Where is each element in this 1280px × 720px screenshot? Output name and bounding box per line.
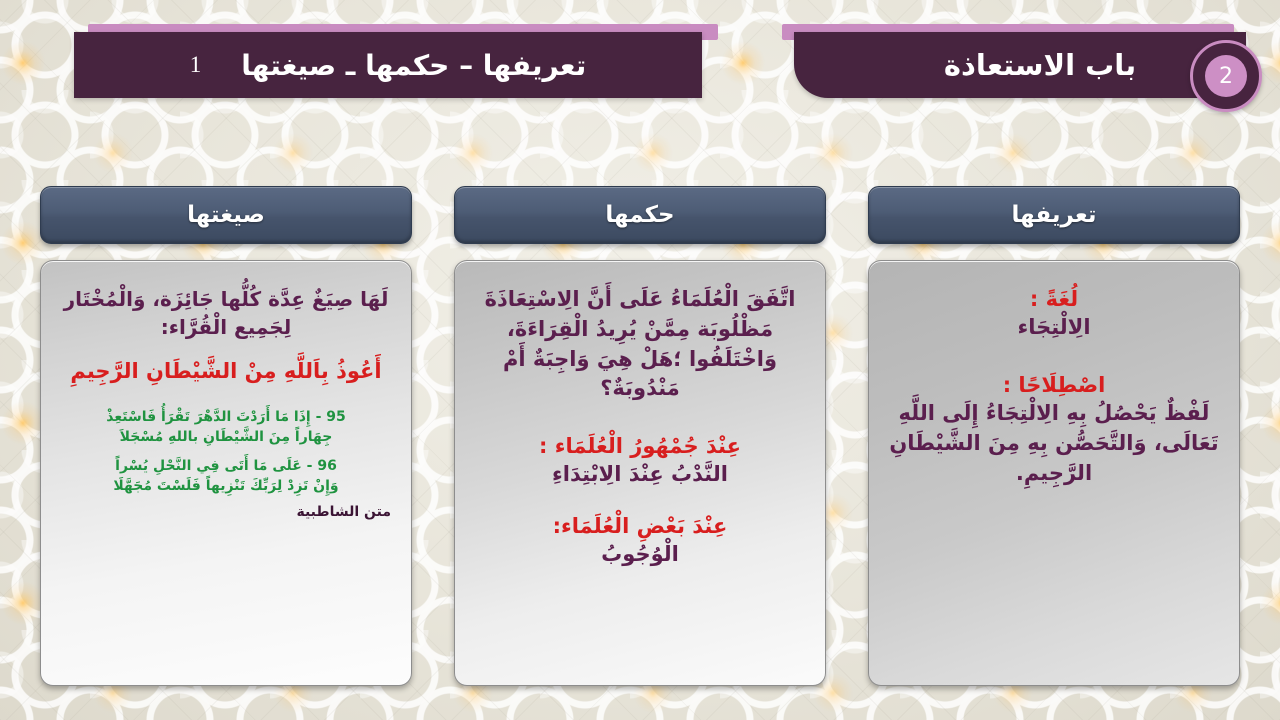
column-body-sighatuha: لَهَا صِيَغٌ عِدَّة كُلُّها جَائِزَة، وَ…	[40, 260, 412, 686]
column-header-label: صيغتها	[187, 202, 265, 228]
verse-source: متن الشاطبية	[55, 504, 397, 520]
istilah-value: لَفْظٌ يَحْصُلُ بِهِ الِالْتِجَاءُ إِلَى…	[883, 399, 1225, 488]
column-header-tarifuha[interactable]: تعريفها	[868, 186, 1240, 244]
verse-line-96b: وَإِنْ تَزِدْ لِرَبِّكَ تَنْزِيهاً فَلَس…	[55, 476, 397, 496]
opinion2-value: الْوُجُوبُ	[469, 540, 811, 570]
verse-line-95a: 95 - إِذَا مَا أَرَدْتَ الدَّهْرَ تَقْرَ…	[55, 407, 397, 427]
subtitle-text: تعريفها – حكمها ـ صيغتها	[241, 49, 586, 82]
lugha-value: الِالْتِجَاء	[883, 313, 1225, 343]
chapter-number-badge: 2	[1190, 40, 1262, 112]
page-title: باب الاستعاذة	[904, 48, 1136, 82]
slide-canvas: باب الاستعاذة 2 تعريفها – حكمها ـ صيغتها…	[0, 0, 1280, 720]
column-header-hukmuha[interactable]: حكمها	[454, 186, 826, 244]
opinion2-label: عِنْدَ بَعْضِ الْعُلَمَاء:	[469, 512, 811, 540]
subtitle-bar: تعريفها – حكمها ـ صيغتها 1	[74, 32, 702, 98]
verse-line-95b: جِهَاراً مِنَ الشَّيْطَانِ باللهِ مُسْجَ…	[55, 427, 397, 447]
hukm-paragraph: اتَّفَقَ الْعُلَمَاءُ عَلَى أَنَّ الِاسْ…	[469, 285, 811, 404]
subtitle-number: 1	[190, 52, 202, 78]
column-body-tarifuha: لُغَةً : الِالْتِجَاء اصْطِلَاحًا : لَفْ…	[868, 260, 1240, 686]
verse-line-96a: 96 - عَلَى مَا أَتَى فِي النَّحْلِ يُسْر…	[55, 456, 397, 476]
opinion1-value: النَّدْبُ عِنْدَ الِابْتِدَاءِ	[469, 460, 811, 490]
taawwudh-formula: أَعُوذُ بِاَللَّهِ مِنْ الشَّيْطَانِ الر…	[55, 357, 397, 385]
sighah-intro: لَهَا صِيَغٌ عِدَّة كُلُّها جَائِزَة، وَ…	[55, 285, 397, 341]
content-columns: تعريفها لُغَةً : الِالْتِجَاء اصْطِلَاحً…	[40, 186, 1240, 686]
column-header-label: تعريفها	[1012, 202, 1097, 228]
chapter-number-badge-value: 2	[1205, 55, 1247, 97]
column-hukmuha: حكمها اتَّفَقَ الْعُلَمَاءُ عَلَى أَنَّ …	[454, 186, 826, 686]
istilah-label: اصْطِلَاحًا :	[883, 371, 1225, 399]
column-body-hukmuha: اتَّفَقَ الْعُلَمَاءُ عَلَى أَنَّ الِاسْ…	[454, 260, 826, 686]
title-bar: باب الاستعاذة	[794, 32, 1246, 98]
opinion1-label: عِنْدَ جُمْهُورُ الْعُلَمَاء :	[469, 432, 811, 460]
column-sighatuha: صيغتها لَهَا صِيَغٌ عِدَّة كُلُّها جَائِ…	[40, 186, 412, 686]
column-header-label: حكمها	[605, 202, 674, 228]
column-header-sighatuha[interactable]: صيغتها	[40, 186, 412, 244]
column-tarifuha: تعريفها لُغَةً : الِالْتِجَاء اصْطِلَاحً…	[868, 186, 1240, 686]
lugha-label: لُغَةً :	[883, 285, 1225, 313]
